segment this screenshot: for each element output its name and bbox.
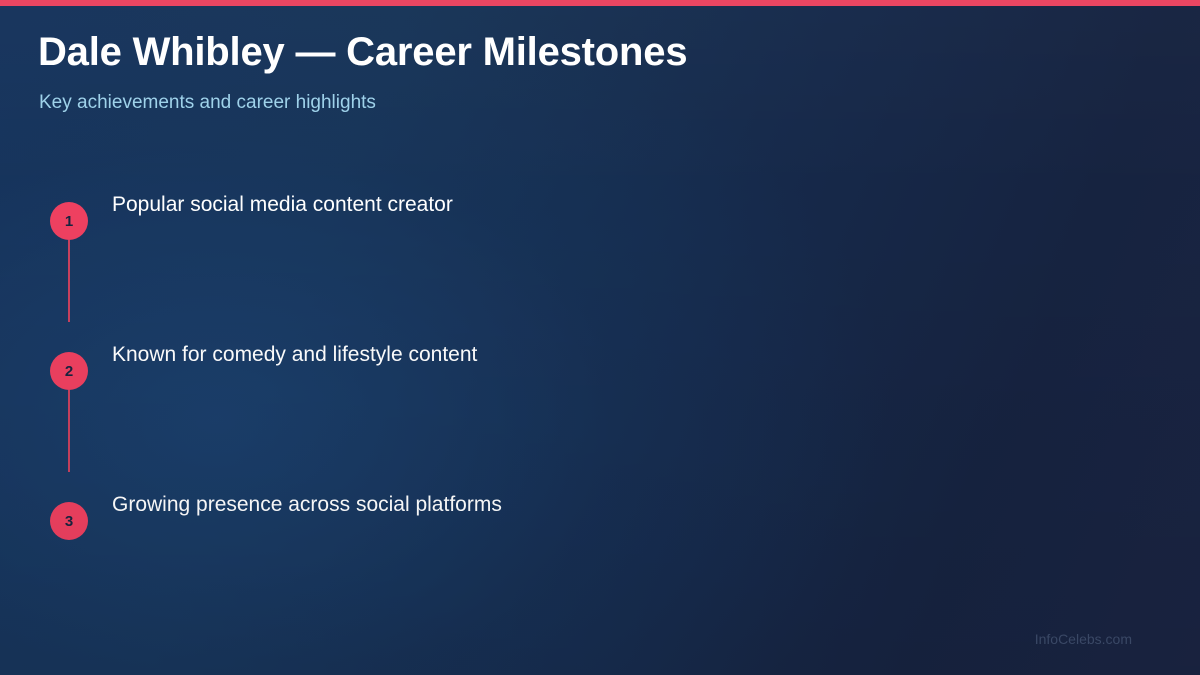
timeline-item-label-2: Known for comedy and lifestyle content: [112, 341, 477, 369]
timeline-item-2: 2 Known for comedy and lifestyle content: [50, 341, 1150, 491]
timeline-node-1: 1: [50, 202, 88, 240]
slide-canvas: Dale Whibley — Career Milestones Key ach…: [0, 0, 1200, 675]
timeline-node-number-1: 1: [65, 214, 73, 229]
timeline-node-number-3: 3: [65, 514, 73, 529]
timeline-list: 1 Popular social media content creator 2…: [0, 0, 1200, 675]
timeline-item-3: 3 Growing presence across social platfor…: [50, 491, 1150, 641]
timeline-node-2: 2: [50, 352, 88, 390]
timeline-node-number-2: 2: [65, 364, 73, 379]
watermark-label: InfoCelebs.com: [1035, 631, 1132, 648]
timeline-connector-1: [68, 240, 70, 322]
timeline-item-1: 1 Popular social media content creator: [50, 191, 1150, 341]
timeline-item-label-3: Growing presence across social platforms: [112, 491, 502, 519]
timeline-node-3: 3: [50, 502, 88, 540]
timeline-item-label-1: Popular social media content creator: [112, 191, 453, 219]
timeline-connector-2: [68, 390, 70, 472]
